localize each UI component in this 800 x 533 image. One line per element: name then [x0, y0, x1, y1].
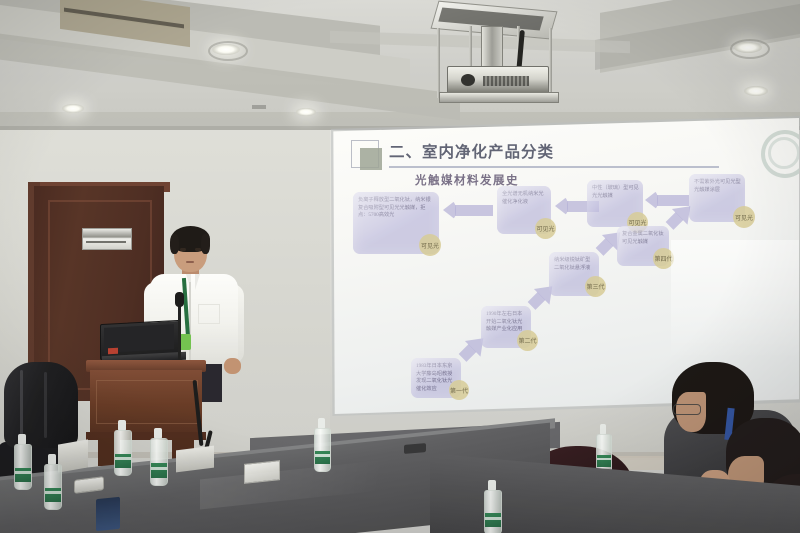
bottle-label [15, 468, 31, 482]
bottle-label [45, 488, 61, 502]
projector-vent-grille [483, 76, 529, 86]
laptop-brand-logo [108, 348, 118, 355]
flow-box-badge: 可见光 [733, 206, 755, 228]
ceiling-downlight [62, 104, 84, 113]
flow-box-badge: 可见光 [535, 218, 556, 239]
ceiling [0, 0, 800, 138]
bottle-label-stripe [45, 491, 61, 494]
water-bottle [314, 418, 329, 470]
bottle-label-stripe [151, 467, 167, 470]
bottle-label-stripe [115, 457, 131, 460]
flow-box-badge: 第二代 [517, 330, 538, 351]
water-bottle [484, 480, 500, 533]
bottle-label [597, 455, 611, 467]
ceiling-downlight-rim [208, 41, 248, 61]
gooseneck-microphone [170, 292, 190, 368]
water-bottle [14, 434, 30, 488]
bottle-body [14, 444, 32, 490]
microphone-capsule [175, 292, 184, 307]
flow-box-badge: 第三代 [585, 276, 606, 297]
bottle-label [115, 454, 131, 468]
bottle-body [150, 438, 168, 486]
circular-watermark-logo-inner-icon [768, 137, 800, 169]
chair-crease [20, 370, 23, 440]
flow-arrow-left [443, 200, 493, 221]
bottle-body [484, 490, 502, 533]
projector-lens [461, 74, 475, 86]
flow-box-badge: 第一代 [449, 380, 469, 400]
water-bottle [44, 454, 60, 508]
chair-crease [44, 372, 47, 438]
projector-lift-rod [437, 28, 440, 98]
bottle-label-stripe [597, 458, 611, 461]
bottle-label [315, 451, 330, 464]
water-bottle [114, 420, 130, 474]
name-tent-card [176, 446, 214, 473]
presenter-eye-left [180, 248, 186, 251]
water-bottle [596, 424, 610, 472]
ceiling-slot-vent [252, 105, 266, 109]
slide-heading-underline [389, 166, 719, 168]
flow-box-badge: 可见光 [419, 234, 441, 256]
slide-square-filled-marker [360, 148, 382, 170]
presenter-hair-side [170, 234, 179, 254]
presenter-hair-side [201, 234, 210, 254]
screen-light-bloom [671, 240, 800, 360]
blue-placard [96, 497, 120, 532]
bottle-body [44, 464, 62, 510]
presenter-hand [224, 358, 241, 374]
projector-base-plate [439, 92, 559, 103]
projector-lift-rod [549, 28, 552, 98]
door-sign-text-line [86, 241, 126, 243]
presenter-collar-right [195, 274, 208, 290]
glasses-icon [673, 404, 701, 415]
door-sign-plate [82, 228, 132, 250]
water-bottle [150, 428, 166, 484]
presenter-mouth [186, 261, 194, 263]
podium-panel-inset [96, 380, 198, 424]
ceiling-downlight [296, 108, 316, 116]
table-cable-port [404, 443, 426, 454]
presenter-shirt-pocket [198, 304, 220, 324]
conference-room-photo: 二、室内净化产品分类 光触媒材料发展史 负离子释放型二氧化钛，纳米银复合吸附型可… [0, 0, 800, 533]
bottle-label-stripe [15, 471, 31, 474]
microphone-stem [178, 302, 181, 368]
presenter-eye-right [195, 248, 201, 251]
slide-heading: 二、室内净化产品分类 [389, 140, 649, 162]
bottle-label-stripe [485, 517, 501, 520]
name-tent-card [58, 439, 88, 472]
bottle-body [114, 430, 132, 476]
ceiling-projector [425, 4, 575, 104]
bottle-label [485, 513, 501, 527]
ceiling-downlight [744, 86, 768, 96]
bottle-label-stripe [315, 454, 330, 457]
ceiling-downlight-rim [730, 39, 770, 59]
bottle-label [151, 463, 167, 478]
